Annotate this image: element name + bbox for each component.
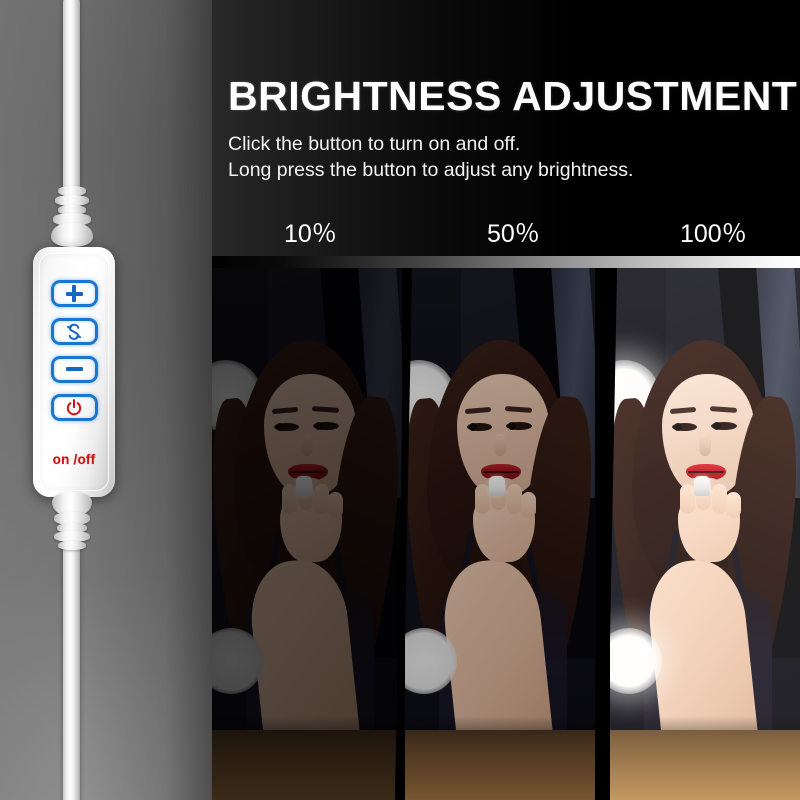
nose xyxy=(301,434,313,456)
photo-scene xyxy=(405,268,595,800)
power-icon xyxy=(64,398,84,418)
brightness-label-50: 50％ xyxy=(487,222,540,247)
minus-icon xyxy=(66,361,83,378)
instructions: Click the button to turn on and off. Lon… xyxy=(228,132,788,183)
pupil-right xyxy=(315,422,323,430)
lip-line xyxy=(483,471,519,473)
controller-button-group xyxy=(33,280,115,432)
lip-line xyxy=(290,471,326,473)
brightness-label-10: 10％ xyxy=(284,222,337,247)
cycle-mode-button[interactable] xyxy=(51,318,98,345)
page-title: BRIGHTNESS ADJUSTMENT xyxy=(228,76,788,117)
inline-dimmer-controller[interactable]: on /off xyxy=(33,247,115,497)
strain-relief-bottom xyxy=(50,492,94,552)
lipstick xyxy=(694,476,710,496)
brightness-label-100: 100％ xyxy=(680,222,747,247)
photo-scene xyxy=(610,268,800,800)
pupil-left xyxy=(469,423,477,431)
lipstick xyxy=(489,476,505,496)
power-button[interactable] xyxy=(51,394,98,421)
nose xyxy=(699,434,711,456)
pupil-left xyxy=(674,423,682,431)
panel-10 xyxy=(212,268,402,800)
lipstick xyxy=(296,476,312,496)
power-label: on /off xyxy=(33,452,115,467)
brightness-label-row: 10％ 50％ 100％ xyxy=(212,222,800,256)
pupil-right xyxy=(508,422,516,430)
photo-scene xyxy=(212,268,402,800)
instruction-line-2: Long press the button to adjust any brig… xyxy=(228,158,788,184)
comparison-photo-band xyxy=(212,268,800,800)
pupil-right xyxy=(713,422,721,430)
product-brightness-infographic: on /off BRIGHTNESS ADJUSTMENT Click the … xyxy=(0,0,800,800)
table xyxy=(405,730,595,800)
power-cable-upper xyxy=(63,0,80,194)
plus-icon xyxy=(66,285,83,302)
lip-line xyxy=(688,471,724,473)
pupil-left xyxy=(276,423,284,431)
increase-brightness-button[interactable] xyxy=(51,280,98,307)
cycle-icon xyxy=(63,321,85,343)
headline-block: BRIGHTNESS ADJUSTMENT Click the button t… xyxy=(228,76,788,183)
brightness-gradient-strip xyxy=(212,256,800,268)
panel-50 xyxy=(405,268,595,800)
strain-relief-top xyxy=(50,186,94,252)
instruction-line-1: Click the button to turn on and off. xyxy=(228,132,788,158)
nose xyxy=(494,434,506,456)
table xyxy=(212,730,402,800)
table xyxy=(610,730,800,800)
decrease-brightness-button[interactable] xyxy=(51,356,98,383)
power-cable-lower xyxy=(63,536,80,800)
panel-100 xyxy=(610,268,800,800)
